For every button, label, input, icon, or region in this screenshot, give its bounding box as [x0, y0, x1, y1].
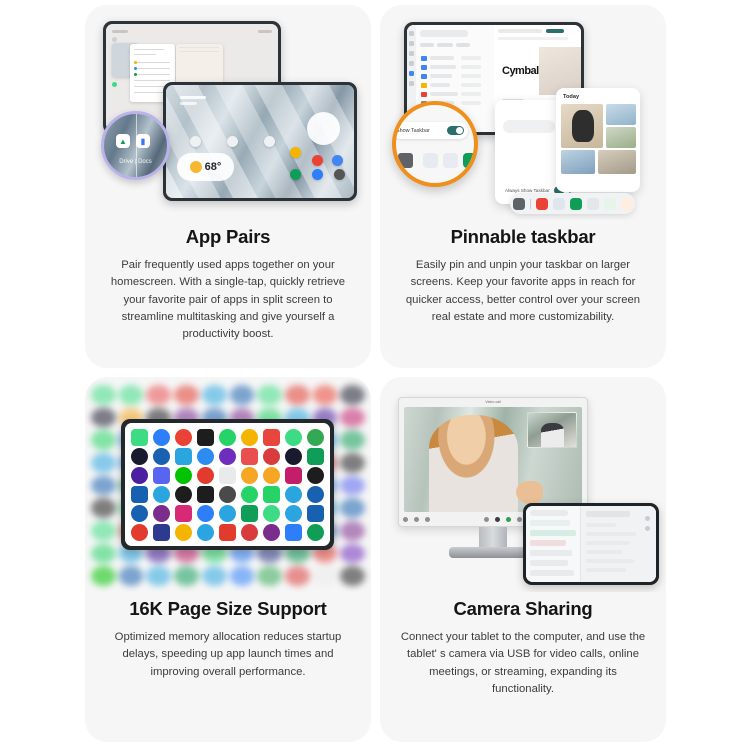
app-icon[interactable] [175, 467, 192, 484]
app-icon[interactable] [153, 524, 170, 541]
page-size-text-block: 16K Page Size Support Optimized memory a… [85, 592, 371, 695]
app-icon[interactable] [241, 448, 258, 465]
blurred-app-icon [174, 385, 199, 405]
app-icon[interactable] [153, 486, 170, 503]
blurred-app-icon [119, 385, 144, 405]
blurred-app-icon [91, 408, 116, 428]
photos-icon[interactable] [423, 153, 438, 168]
blurred-app-icon [340, 544, 365, 564]
card-description-page-size-support: Optimized memory allocation reduces star… [101, 629, 355, 680]
monitor-stand-neck [479, 527, 507, 549]
app-icon[interactable] [197, 467, 214, 484]
info-icon[interactable] [425, 517, 430, 522]
app-icon[interactable] [285, 429, 302, 446]
app-icon[interactable] [131, 505, 148, 522]
blurred-app-icon [340, 566, 365, 586]
app-icon[interactable] [175, 486, 192, 503]
app-icon[interactable] [285, 486, 302, 503]
video-call-titlebar: Video call [399, 398, 587, 407]
app-icon[interactable] [307, 467, 324, 484]
weather-widget[interactable]: 68° [177, 153, 234, 181]
app-icon[interactable] [307, 448, 324, 465]
blurred-app-icon [340, 498, 365, 518]
blurred-app-icon [91, 430, 116, 450]
photos-panel-title: Today [563, 94, 579, 100]
clock-widget [307, 112, 340, 145]
app-pair-label: Drive | Docs [104, 159, 167, 165]
blurred-app-icon [146, 385, 171, 405]
taskbar-toggle-magnifier: Show Taskbar [392, 101, 478, 187]
apps-grid-icon[interactable] [398, 153, 413, 168]
app-icon[interactable] [197, 486, 214, 503]
sun-icon [190, 161, 202, 173]
app-icon[interactable] [175, 448, 192, 465]
app-icon[interactable] [219, 505, 236, 522]
app-icon[interactable] [131, 467, 148, 484]
page-size-illustration [85, 377, 371, 592]
mic-icon[interactable] [403, 517, 408, 522]
pinnable-taskbar-illustration: Cymbal Show Taskbar [380, 5, 666, 220]
blurred-app-icon [340, 385, 365, 405]
app-icon[interactable] [307, 429, 324, 446]
app-icon[interactable] [307, 505, 324, 522]
app-icon[interactable] [197, 429, 214, 446]
magnified-show-taskbar-label: Show Taskbar [396, 128, 430, 134]
blurred-app-icon [340, 453, 365, 473]
app-icon[interactable] [153, 467, 170, 484]
blurred-app-icon [257, 566, 282, 586]
app-icon[interactable] [197, 524, 214, 541]
app-icon[interactable] [307, 524, 324, 541]
app-icon[interactable] [131, 448, 148, 465]
app-icon[interactable] [175, 429, 192, 446]
pinnable-taskbar-text-block: Pinnable taskbar Easily pin and unpin yo… [380, 220, 666, 340]
search-input[interactable] [530, 510, 568, 516]
app-pair-magnifier-large: ▲ ▮ Drive | Docs [101, 111, 170, 180]
blurred-app-icon [91, 476, 116, 496]
app-icon[interactable] [219, 524, 236, 541]
app-icon[interactable] [175, 505, 192, 522]
magnified-taskbar-icons [398, 153, 476, 168]
blurred-app-icon [340, 476, 365, 496]
app-icon[interactable] [197, 448, 214, 465]
app-icon[interactable] [131, 429, 148, 446]
app-icon[interactable] [153, 448, 170, 465]
feature-card-grid: Cymbal [85, 5, 665, 742]
feature-grid-page: Cymbal [0, 0, 750, 750]
blurred-app-icon [230, 566, 255, 586]
blurred-app-icon [91, 385, 116, 405]
taskbar-divider [530, 199, 531, 209]
magnified-show-taskbar-row[interactable]: Show Taskbar [392, 122, 468, 139]
show-taskbar-toggle[interactable] [447, 126, 464, 135]
feature-card-camera-sharing[interactable]: Video call [380, 377, 666, 742]
tablet-webcam-device [523, 503, 659, 585]
remote-participant-video [429, 415, 518, 512]
drive-icon[interactable] [463, 153, 478, 168]
camera-sharing-text-block: Camera Sharing Connect your tablet to th… [380, 592, 666, 712]
blurred-app-icon [340, 408, 365, 428]
camera-sharing-illustration: Video call [380, 377, 666, 592]
app-icon[interactable] [219, 429, 236, 446]
app-icon[interactable] [285, 505, 302, 522]
blurred-app-icon [285, 566, 310, 586]
feature-card-app-pairs[interactable]: Cymbal [85, 5, 371, 368]
card-title-page-size-support: 16K Page Size Support [101, 598, 355, 620]
blurred-app-icon [313, 385, 338, 405]
blurred-app-icon [202, 385, 227, 405]
app-icon[interactable] [241, 486, 258, 503]
photos-icon[interactable] [536, 198, 548, 210]
blurred-app-icon [91, 521, 116, 541]
blurred-app-icon [230, 385, 255, 405]
camera-icon[interactable] [553, 198, 565, 210]
app-icon[interactable] [219, 486, 236, 503]
participant-hand [516, 481, 543, 504]
app-icon[interactable] [285, 448, 302, 465]
app-icon[interactable] [153, 505, 170, 522]
app-icon[interactable] [131, 524, 148, 541]
app-icon[interactable] [285, 467, 302, 484]
app-icon[interactable] [241, 467, 258, 484]
drive-icon[interactable] [570, 198, 582, 210]
more-options-icon[interactable] [517, 517, 522, 522]
apps-grid-icon[interactable] [513, 198, 525, 210]
feature-card-page-size-support[interactable]: 16K Page Size Support Optimized memory a… [85, 377, 371, 742]
app-icon[interactable] [263, 486, 280, 503]
maps-icon[interactable] [604, 198, 616, 210]
app-icon[interactable] [263, 524, 280, 541]
tablet-homescreen-device: 68° ▲ ▮ [163, 82, 357, 201]
app-icon[interactable] [263, 429, 280, 446]
app-icon[interactable] [285, 524, 302, 541]
card-description-camera-sharing: Connect your tablet to the computer, and… [396, 629, 650, 698]
card-title-camera-sharing: Camera Sharing [396, 598, 650, 620]
taskbar[interactable] [510, 193, 635, 214]
blurred-app-icon [91, 566, 116, 586]
brand-text-cymbal-2: Cymbal [502, 65, 539, 77]
app-pairs-illustration: Cymbal [85, 5, 371, 220]
files-icon[interactable] [587, 198, 599, 210]
app-icon[interactable] [131, 486, 148, 503]
card-description-pinnable-taskbar: Easily pin and unpin your taskbar on lar… [396, 257, 650, 326]
app-icon[interactable] [219, 467, 236, 484]
join-icon[interactable] [506, 517, 511, 522]
app-icon[interactable] [241, 429, 258, 446]
blurred-app-icon [91, 544, 116, 564]
blurred-app-icon [202, 566, 227, 586]
app-icon[interactable] [263, 467, 280, 484]
blurred-app-icon [340, 521, 365, 541]
camera-icon[interactable] [443, 153, 458, 168]
share-screen-icon[interactable] [484, 517, 489, 522]
blurred-app-icon [257, 385, 282, 405]
blurred-app-icon [340, 430, 365, 450]
app-icon[interactable] [263, 448, 280, 465]
weather-temperature: 68° [205, 161, 222, 173]
app-icon[interactable] [241, 524, 258, 541]
blurred-app-icon [91, 453, 116, 473]
app-icon[interactable] [219, 448, 236, 465]
app-icon[interactable] [197, 505, 214, 522]
blurred-app-icon [285, 385, 310, 405]
app-icon-grid [125, 423, 330, 546]
blurred-app-icon [91, 498, 116, 518]
card-title-pinnable-taskbar: Pinnable taskbar [396, 226, 650, 248]
app-pairs-text-block: App Pairs Pair frequently used apps toge… [85, 220, 371, 357]
blurred-app-icon [146, 566, 171, 586]
card-description-app-pairs: Pair frequently used apps together on yo… [101, 257, 355, 343]
video-call-title: Video call [485, 400, 501, 404]
blurred-app-icon [313, 566, 338, 586]
feature-card-pinnable-taskbar[interactable]: Cymbal Show Taskbar [380, 5, 666, 368]
card-title-app-pairs: App Pairs [101, 226, 355, 248]
chat-message-bubble [503, 120, 555, 133]
record-icon[interactable] [495, 517, 500, 522]
video-call-stage [404, 407, 582, 512]
app-icon[interactable] [263, 505, 280, 522]
app-icon[interactable] [153, 429, 170, 446]
home-icon[interactable] [621, 198, 633, 210]
blurred-app-icon [174, 566, 199, 586]
app-icon[interactable] [307, 486, 324, 503]
camera-icon[interactable] [414, 517, 419, 522]
blurred-app-icon [119, 566, 144, 586]
app-icon[interactable] [241, 505, 258, 522]
tablet-app-grid-device [121, 419, 334, 550]
app-icon[interactable] [175, 524, 192, 541]
photos-panel: Today [556, 88, 640, 192]
self-view-pip[interactable] [527, 412, 577, 448]
